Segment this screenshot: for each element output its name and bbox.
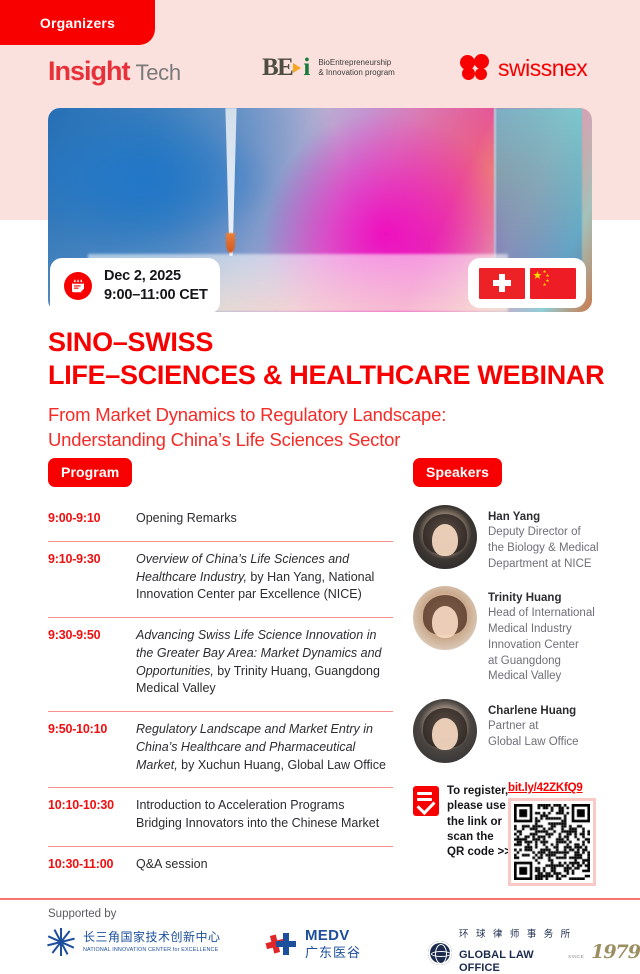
calendar-icon — [64, 272, 92, 300]
supported-by-label: Supported by — [48, 908, 116, 920]
nice-star-icon — [46, 928, 76, 956]
country-flags-badge: ★ ★★ ★★ — [468, 258, 586, 308]
insight-tech-suffix: Tech — [136, 60, 181, 86]
nice-chinese-name: 长三角国家技术创新中心 — [83, 931, 221, 944]
event-time: 9:00–11:00 CET — [104, 287, 208, 303]
globe-icon — [428, 941, 452, 965]
program-row-speaker: by Xuchun Huang, Global Law Office — [178, 758, 386, 772]
logo-bei[interactable]: BE i BioEntrepreneurship & Innovation pr… — [262, 54, 395, 82]
date-time-text: Dec 2, 2025 9:00–11:00 CET — [104, 267, 208, 305]
medv-english-name: MEDV — [305, 928, 361, 943]
bei-triangle-icon — [293, 63, 301, 73]
logo-global-law-office[interactable]: 环 球 律 师 事 务 所 GLOBAL LAW OFFICE SINCE 19… — [428, 930, 640, 974]
logo-national-innovation-center[interactable]: 长三角国家技术创新中心 NATIONAL INNOVATION CENTER f… — [46, 928, 221, 956]
subtitle-line-2: Understanding China’s Life Sciences Sect… — [48, 428, 608, 453]
webinar-poster: Organizers Insight Tech BE i BioEntrepre… — [0, 0, 640, 974]
speakers-section: Speakers Han YangDeputy Director ofthe B… — [413, 458, 613, 777]
hero-glove-blur — [48, 118, 278, 243]
title-block: SINO–SWISS LIFE–SCIENCES & HEALTHCARE WE… — [48, 326, 608, 453]
speaker-role: Partner atGlobal Law Office — [488, 719, 579, 751]
organizers-tab: Organizers — [0, 0, 155, 45]
switzerland-flag-icon — [479, 268, 525, 299]
medv-text: MEDV 广东医谷 — [305, 928, 361, 961]
insight-wordmark: Insight — [48, 56, 130, 87]
bei-i-letter: i — [303, 54, 310, 82]
event-date: Dec 2, 2025 — [104, 268, 181, 284]
program-row-time: 9:30-9:50 — [48, 627, 124, 698]
global-law-since-label: SINCE — [568, 954, 584, 959]
speaker-name: Trinity Huang — [488, 590, 595, 606]
program-row: 9:30-9:50Advancing Swiss Life Science In… — [48, 618, 393, 712]
global-law-english-name: GLOBAL LAW OFFICE — [459, 949, 564, 974]
program-row-description: Overview of China’s Life Sciences and He… — [136, 551, 393, 604]
program-row: 10:10-10:30Introduction to Acceleration … — [48, 788, 393, 847]
program-row-time: 10:10-10:30 — [48, 797, 124, 833]
page-subtitle: From Market Dynamics to Regulatory Lands… — [48, 403, 608, 453]
program-row: 9:00-9:10Opening Remarks — [48, 501, 393, 542]
register-form-check-icon — [413, 786, 439, 816]
qr-code[interactable] — [508, 798, 596, 886]
logo-medv[interactable]: MEDV 广东医谷 — [264, 928, 361, 961]
speaker-role: Deputy Director ofthe Biology & MedicalD… — [488, 525, 599, 572]
program-row-description: Opening Remarks — [136, 510, 237, 528]
logo-swissnex[interactable]: swissnex — [460, 54, 587, 82]
registration-link[interactable]: bit.ly/42ZKfQ9 — [508, 782, 600, 794]
nice-english-name: NATIONAL INNOVATION CENTER for EXCELLENC… — [83, 947, 221, 953]
program-row: 9:50-10:10Regulatory Landscape and Marke… — [48, 712, 393, 788]
medv-chinese-name: 广东医谷 — [305, 945, 361, 961]
program-rows: 9:00-9:10Opening Remarks9:10-9:30Overvie… — [48, 501, 393, 887]
program-row-description: Regulatory Landscape and Market Entry in… — [136, 721, 393, 774]
organizers-label: Organizers — [40, 15, 115, 31]
program-row-time: 9:10-9:30 — [48, 551, 124, 604]
avatar-trinity-huang — [413, 586, 477, 650]
bei-tagline: BioEntrepreneurship & Innovation program — [318, 58, 395, 78]
speaker-info: Trinity HuangHead of InternationalMedica… — [488, 586, 595, 685]
speaker-list: Han YangDeputy Director ofthe Biology & … — [413, 505, 613, 763]
global-law-chinese-name: 环 球 律 师 事 务 所 — [459, 930, 640, 941]
register-instructions: To register,please usethe link orscan th… — [447, 784, 511, 860]
program-row-description: Introduction to Acceleration Programs Br… — [136, 797, 393, 833]
program-row: 10:30-11:00Q&A session — [48, 847, 393, 887]
nice-text: 长三角国家技术创新中心 NATIONAL INNOVATION CENTER f… — [83, 931, 221, 952]
subtitle-line-1: From Market Dynamics to Regulatory Lands… — [48, 403, 608, 428]
global-law-text: 环 球 律 师 事 务 所 GLOBAL LAW OFFICE SINCE 19… — [459, 930, 640, 974]
avatar-charlene-huang — [413, 699, 477, 763]
footer: Supported by 长三角国家技术创新中心 NATIONAL INNOVA… — [0, 900, 640, 974]
speaker-name: Han Yang — [488, 509, 599, 525]
swissnex-wordmark: swissnex — [498, 55, 587, 82]
swissnex-mark-icon — [460, 54, 490, 82]
speaker-card: Trinity HuangHead of InternationalMedica… — [413, 586, 613, 685]
program-section: Program 9:00-9:10Opening Remarks9:10-9:3… — [48, 458, 393, 887]
avatar-han-yang — [413, 505, 477, 569]
hero-droplet — [226, 233, 235, 253]
speaker-name: Charlene Huang — [488, 703, 579, 719]
title-line-1: SINO–SWISS — [48, 326, 608, 359]
program-row-description: Advancing Swiss Life Science Innovation … — [136, 627, 393, 698]
medv-cross-icon — [264, 930, 298, 960]
program-pill: Program — [48, 458, 132, 487]
china-flag-icon: ★ ★★ ★★ — [530, 268, 576, 299]
speaker-role: Head of InternationalMedical IndustryInn… — [488, 606, 595, 685]
date-time-badge: Dec 2, 2025 9:00–11:00 CET — [50, 258, 220, 314]
speakers-pill: Speakers — [413, 458, 502, 487]
speaker-info: Han YangDeputy Director ofthe Biology & … — [488, 505, 599, 572]
title-line-2: LIFE–SCIENCES & HEALTHCARE WEBINAR — [48, 359, 608, 392]
speaker-card: Han YangDeputy Director ofthe Biology & … — [413, 505, 613, 572]
program-row-time: 10:30-11:00 — [48, 856, 124, 874]
bei-tagline-line1: BioEntrepreneurship — [318, 58, 391, 67]
speaker-info: Charlene HuangPartner atGlobal Law Offic… — [488, 699, 579, 751]
program-row-description: Q&A session — [136, 856, 208, 874]
hero-beaker — [494, 108, 582, 268]
program-row: 9:10-9:30Overview of China’s Life Scienc… — [48, 542, 393, 618]
global-law-year: 1979 — [591, 941, 640, 963]
program-row-time: 9:00-9:10 — [48, 510, 124, 528]
page-title: SINO–SWISS LIFE–SCIENCES & HEALTHCARE WE… — [48, 326, 608, 393]
bei-tagline-line2: & Innovation program — [318, 68, 395, 77]
bei-be-letters: BE — [262, 54, 292, 82]
logo-insight-tech[interactable]: Insight Tech — [48, 56, 181, 87]
bei-mark: BE i — [262, 54, 310, 82]
qr-column: bit.ly/42ZKfQ9 — [508, 782, 600, 886]
organizer-logos: Insight Tech BE i BioEntrepreneurship & … — [0, 50, 640, 102]
program-row-time: 9:50-10:10 — [48, 721, 124, 774]
footer-logos: 长三角国家技术创新中心 NATIONAL INNOVATION CENTER f… — [0, 928, 640, 972]
speaker-card: Charlene HuangPartner atGlobal Law Offic… — [413, 699, 613, 763]
